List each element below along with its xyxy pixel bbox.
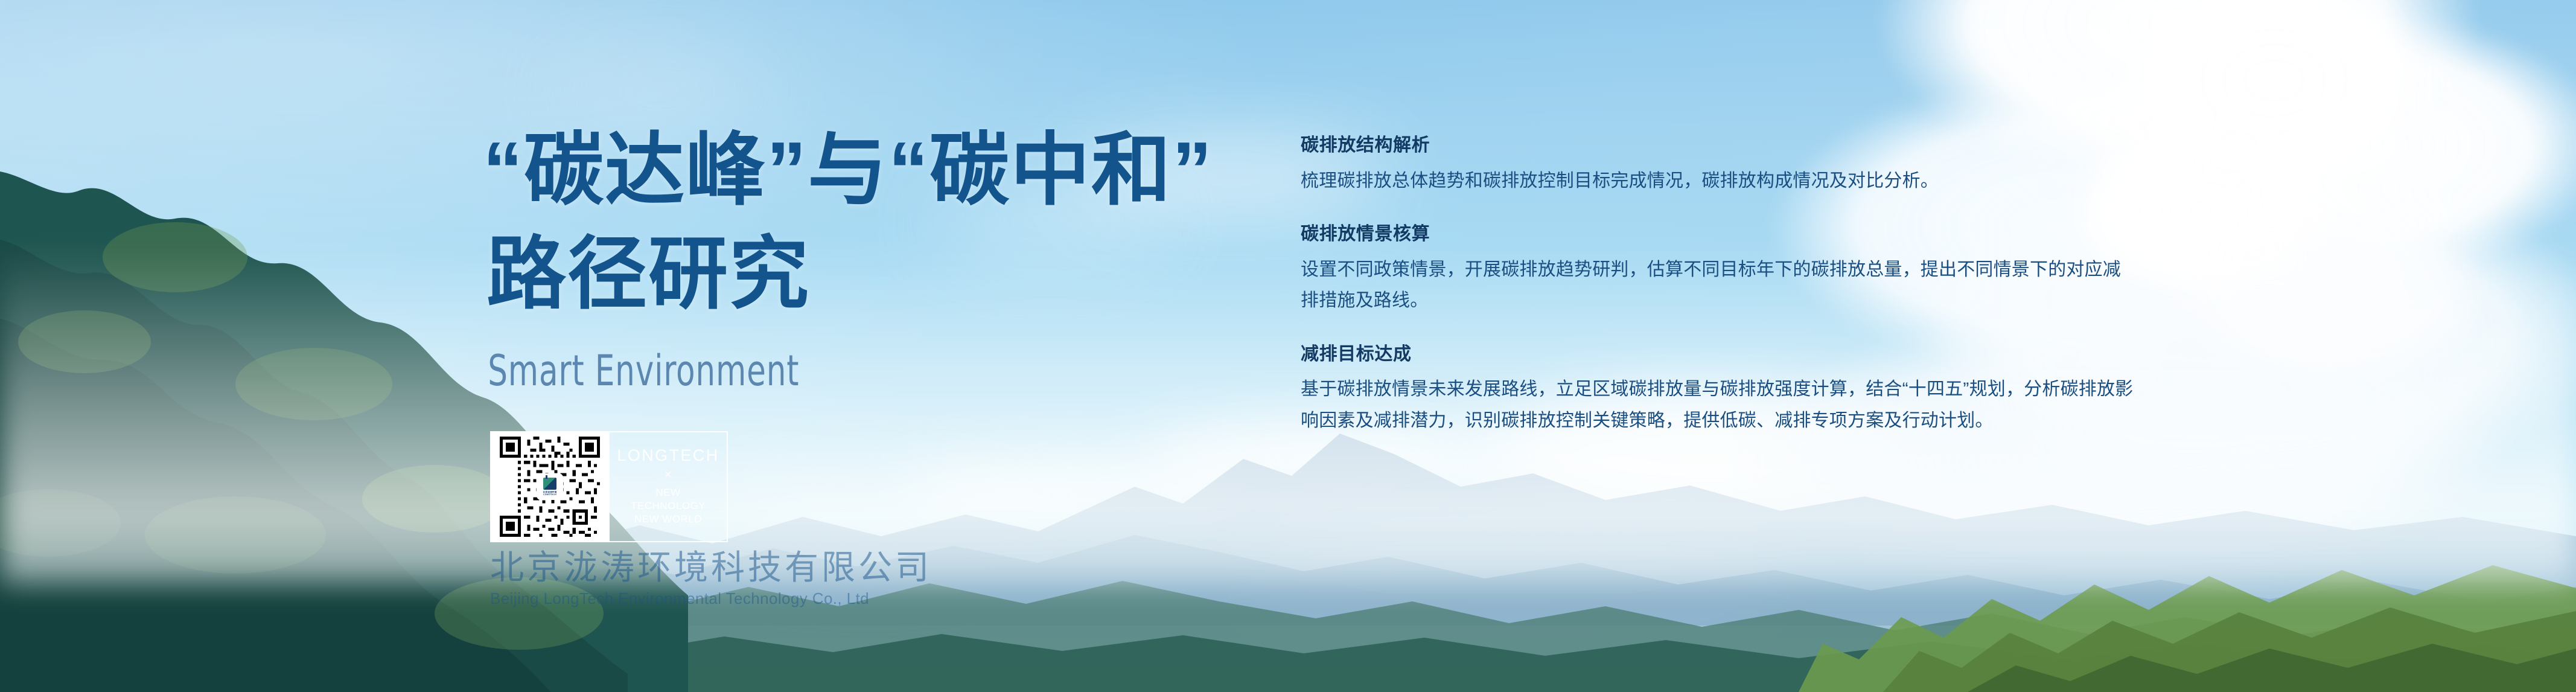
info-block-carbon-structure: 碳排放结构解析 梳理碳排放总体趋势和碳排放控制目标完成情况，碳排放构成情况及对比… (1301, 134, 2134, 196)
brand-cross-icon: × (665, 469, 671, 481)
page-title-line-2: 路径研究 (483, 222, 1219, 326)
atmospheric-haze (0, 245, 2576, 583)
page-title-line-1: “碳达峰”与“碳中和” (483, 118, 1219, 222)
qr-logo-caption-en: LONGTECH (543, 493, 557, 496)
info-heading: 碳排放结构解析 (1301, 134, 2134, 157)
brand-tagline-box: LONGTECH × NEW TECHNOLOGY NEW WORLD (610, 431, 728, 542)
info-column: 碳排放结构解析 梳理碳排放总体趋势和碳排放控制目标完成情况，碳排放构成情况及对比… (1301, 134, 2134, 436)
info-heading: 碳排放情景核算 (1301, 223, 2134, 246)
qr-brand-panel[interactable]: 北京泷涛环境 LONGTECH LONGTECH × NEW TECHNOLOG… (490, 431, 728, 542)
info-body: 基于碳排放情景未来发展路线，立足区域碳排放量与碳排放强度计算，结合“十四五”规划… (1301, 374, 2134, 436)
info-block-scenario-accounting: 碳排放情景核算 设置不同政策情景，开展碳排放趋势研判，估算不同目标年下的碳排放总… (1301, 223, 2134, 316)
info-body: 梳理碳排放总体趋势和碳排放控制目标完成情况，碳排放构成情况及对比分析。 (1301, 165, 2134, 197)
info-heading: 减排目标达成 (1301, 343, 2134, 366)
brand-tagline-line-2: TECHNOLOGY (631, 499, 706, 513)
qr-logo-caption: 北京泷涛环境 LONGTECH (543, 491, 557, 496)
title-block: “碳达峰”与“碳中和” 路径研究 Smart Environment (483, 118, 1219, 392)
brand-tagline-line-1: NEW (631, 486, 706, 499)
qr-code-card[interactable]: 北京泷涛环境 LONGTECH (490, 431, 610, 542)
brand-name: LONGTECH (617, 447, 719, 464)
qr-code-image[interactable]: 北京泷涛环境 LONGTECH (500, 437, 600, 537)
info-body: 设置不同政策情景，开展碳排放趋势研判，估算不同目标年下的碳排放总量，提出不同情景… (1301, 254, 2134, 316)
brand-tagline: NEW TECHNOLOGY NEW WORLD (631, 486, 706, 526)
qr-center-logo: 北京泷涛环境 LONGTECH (537, 473, 563, 500)
page-subtitle: Smart Environment (483, 350, 1086, 392)
hero-banner: “碳达峰”与“碳中和” 路径研究 Smart Environment (0, 0, 2576, 692)
brand-tagline-line-3: NEW WORLD (631, 513, 706, 526)
longtech-logo-icon (543, 478, 556, 490)
info-block-emission-target: 减排目标达成 基于碳排放情景未来发展路线，立足区域碳排放量与碳排放强度计算，结合… (1301, 343, 2134, 437)
